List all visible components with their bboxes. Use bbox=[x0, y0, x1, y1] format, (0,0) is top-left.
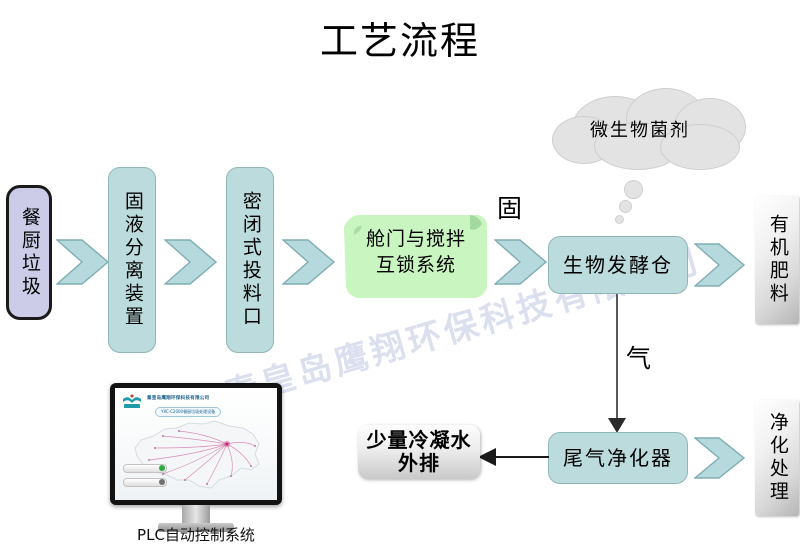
node-condensate-discharge[interactable]: 少量冷凝水 外排 bbox=[358, 425, 480, 479]
plc-screen[interactable]: 秦皇岛鹰翔环保科技有限公司 YXC-C2000餐厨垃圾处理设备 bbox=[115, 388, 277, 500]
status-indicator-on bbox=[159, 465, 165, 471]
node-separator[interactable]: 固液分离装置 bbox=[108, 167, 156, 353]
gas-connector-line bbox=[616, 294, 618, 424]
node-scrubber[interactable]: 尾气净化器 bbox=[548, 432, 688, 484]
node-condensate-label-line2: 外排 bbox=[398, 452, 440, 475]
node-purification[interactable]: 净化处理 bbox=[755, 400, 799, 516]
status-indicator-off bbox=[159, 479, 165, 485]
monitor-stand-neck bbox=[182, 505, 210, 525]
branch-label-solid: 固 bbox=[497, 189, 522, 225]
company-logo-icon bbox=[121, 393, 143, 409]
node-feed-port[interactable]: 密闭式投料口 bbox=[226, 167, 274, 353]
chevron-arrow-icon bbox=[282, 236, 336, 288]
node-feed-port-label: 密闭式投料口 bbox=[239, 191, 261, 329]
node-organic-fertilizer[interactable]: 有机肥料 bbox=[755, 196, 799, 324]
cloud-bubble-large bbox=[624, 180, 643, 199]
node-separator-label: 固液分离装置 bbox=[121, 191, 143, 329]
arrow-left-icon bbox=[478, 448, 496, 466]
chevron-arrow-icon bbox=[164, 236, 218, 288]
node-scrubber-label: 尾气净化器 bbox=[563, 447, 673, 470]
node-purification-label: 净化处理 bbox=[766, 412, 788, 504]
chevron-arrow-icon bbox=[694, 434, 746, 482]
cloud-icon: 微生物菌剂 bbox=[548, 88, 758, 180]
node-interlock-label-line2: 互锁系统 bbox=[376, 253, 456, 279]
node-interlock[interactable]: 舱门与搅拌 互锁系统 bbox=[344, 213, 488, 299]
cloud-bubble-medium bbox=[619, 200, 632, 213]
monitor-icon[interactable]: 秦皇岛鹰翔环保科技有限公司 YXC-C2000餐厨垃圾处理设备 bbox=[110, 383, 282, 505]
cloud-label: 微生物菌剂 bbox=[590, 116, 690, 142]
cloud-bubble-small bbox=[615, 215, 624, 224]
node-interlock-label-line1: 舱门与搅拌 bbox=[366, 227, 466, 253]
chevron-arrow-icon bbox=[56, 236, 110, 288]
node-fermenter-label: 生物发酵仓 bbox=[563, 254, 673, 277]
plc-caption: PLC自动控制系统 bbox=[86, 524, 306, 545]
node-fermenter[interactable]: 生物发酵仓 bbox=[548, 236, 688, 294]
branch-label-gas: 气 bbox=[626, 339, 651, 375]
process-flow-diagram: 工艺流程 秦皇岛鹰翔环保科技有限公司 餐厨垃圾 固液分离装置 密闭式投料口 舱门… bbox=[0, 0, 800, 559]
node-condensate-label-line1: 少量冷凝水 bbox=[367, 429, 472, 452]
page-title: 工艺流程 bbox=[0, 10, 800, 65]
node-waste-label: 餐厨垃圾 bbox=[18, 207, 40, 299]
chevron-arrow-icon bbox=[694, 240, 746, 290]
chevron-arrow-icon bbox=[494, 236, 548, 288]
node-organic-fertilizer-label: 有机肥料 bbox=[766, 214, 788, 306]
node-waste[interactable]: 餐厨垃圾 bbox=[6, 185, 52, 320]
condensate-connector-line bbox=[495, 456, 549, 458]
screen-company-header: 秦皇岛鹰翔环保科技有限公司 bbox=[147, 395, 209, 401]
